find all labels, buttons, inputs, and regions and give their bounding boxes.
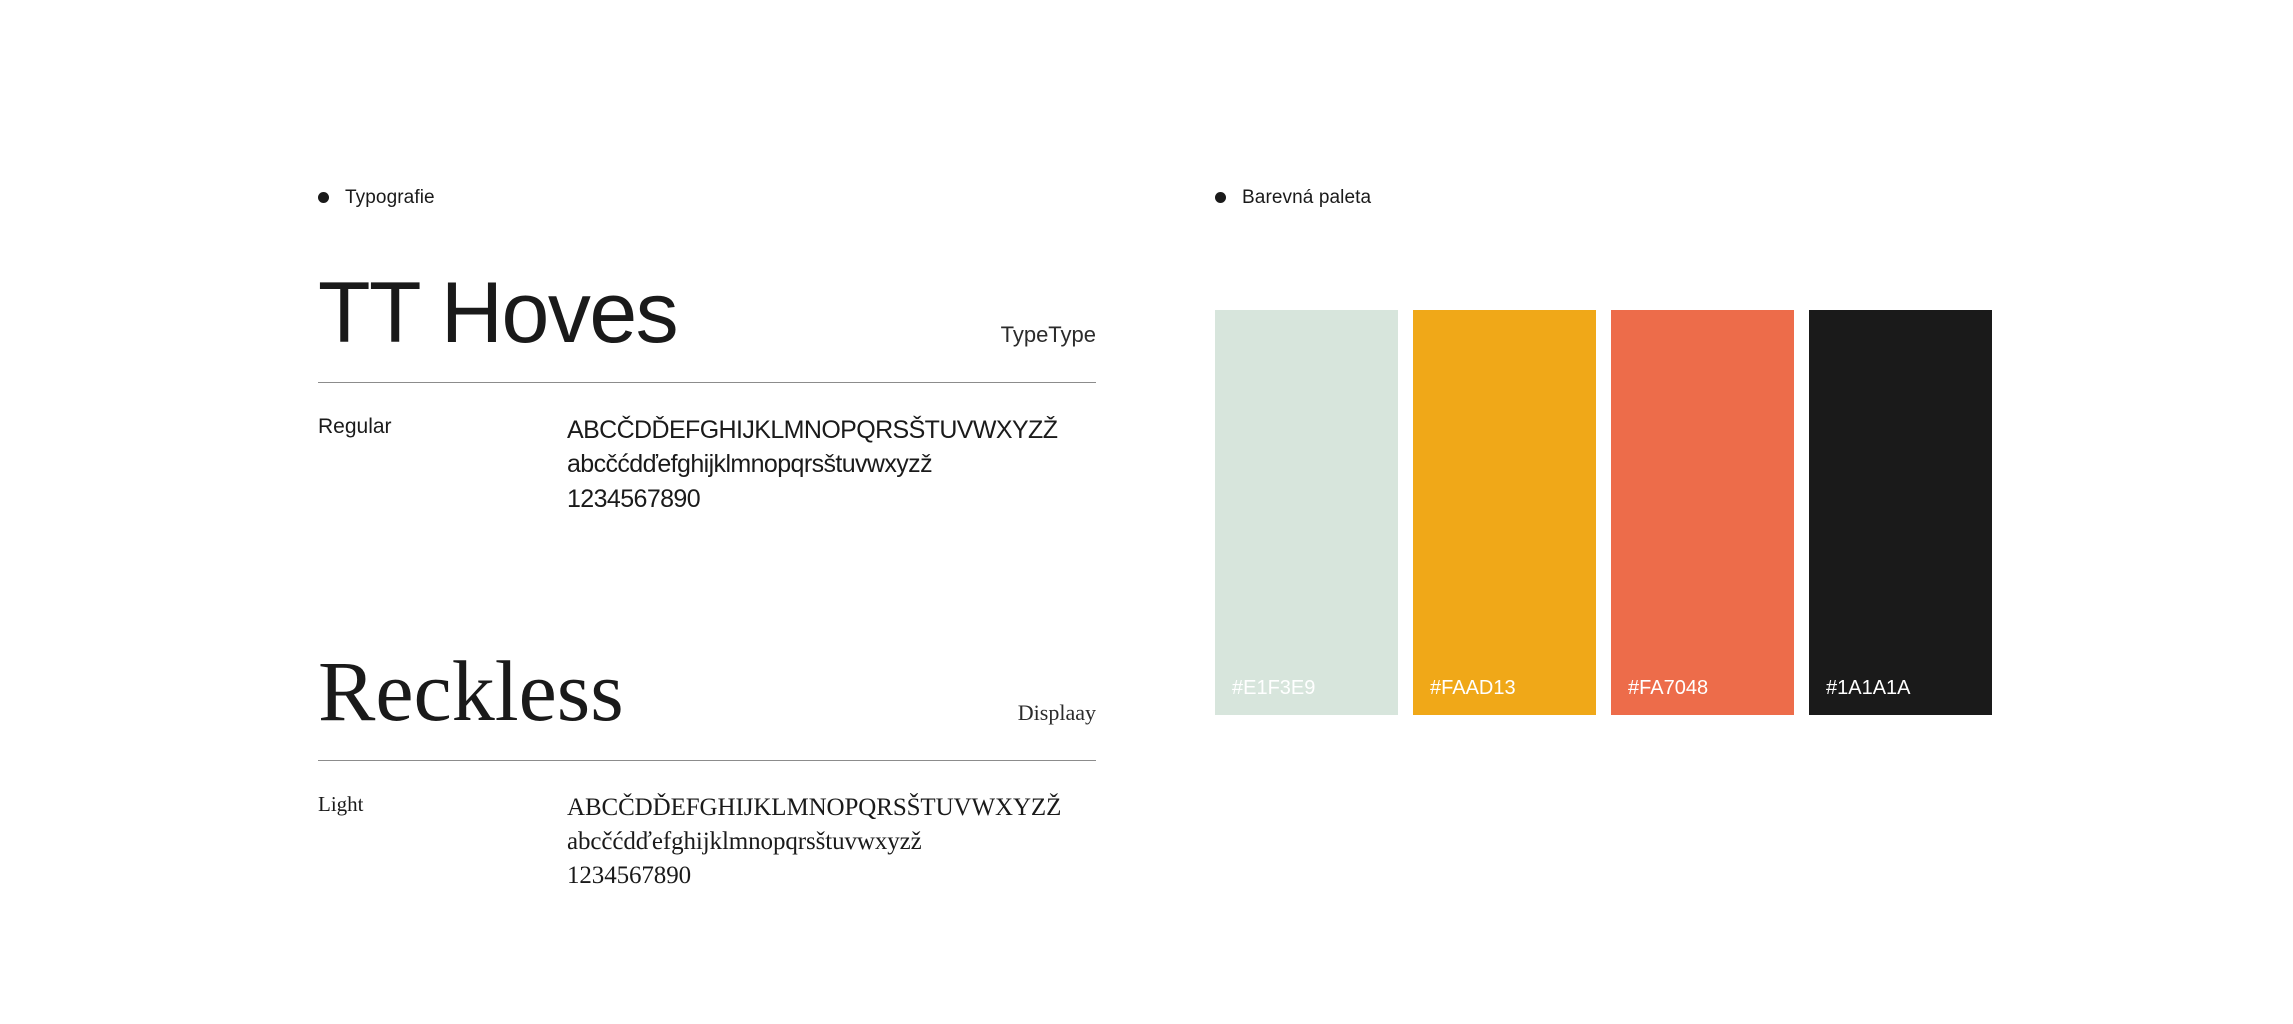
typeface-block-serif: Reckless Displaay Light ABCČDĎEFGHIJKLMN… — [318, 648, 1096, 894]
typeface-glyph-set: ABCČDĎEFGHIJKLMNOPQRSŠTUVWXYZŽ abcčćdďef… — [567, 791, 1096, 894]
palette-section-title: Barevná paleta — [1242, 188, 1371, 207]
typeface-block-sans: TT Hoves TypeType Regular ABCČDĎEFGHIJKL… — [318, 270, 1096, 516]
swatch-hex-label: #1A1A1A — [1826, 678, 1911, 698]
swatch-hex-label: #E1F3E9 — [1232, 678, 1315, 698]
typeface-title-row: TT Hoves TypeType — [318, 270, 1096, 356]
typeface-divider — [318, 760, 1096, 761]
typography-section-header: Typografie — [318, 188, 435, 207]
typeface-name: Reckless — [318, 648, 624, 734]
swatch-coral[interactable]: #FA7048 — [1611, 310, 1794, 715]
palette-section-header: Barevná paleta — [1215, 188, 1371, 207]
glyph-line-uppercase: ABCČDĎEFGHIJKLMNOPQRSŠTUVWXYZŽ — [567, 791, 1096, 825]
swatch-amber[interactable]: #FAAD13 — [1413, 310, 1596, 715]
color-palette: #E1F3E9 #FAAD13 #FA7048 #1A1A1A — [1215, 310, 1992, 715]
typeface-weight-label: Light — [318, 791, 567, 819]
typeface-foundry: Displaay — [1018, 702, 1096, 728]
glyph-line-lowercase: abcčćdďefghijklmnopqrsštuvwxyzž — [567, 825, 1096, 859]
typeface-glyph-set: ABCČDĎEFGHIJKLMNOPQRSŠTUVWXYZŽ abcčćdďef… — [567, 413, 1096, 516]
typeface-foundry: TypeType — [1001, 324, 1096, 350]
brand-guidelines-board: Typografie TT Hoves TypeType Regular ABC… — [0, 0, 2293, 1024]
glyph-line-numerals: 1234567890 — [567, 859, 1096, 893]
swatch-hex-label: #FA7048 — [1628, 678, 1708, 698]
swatch-mint[interactable]: #E1F3E9 — [1215, 310, 1398, 715]
glyph-line-lowercase: abcčćdďefghijklmnopqrsštuvwxyzž — [567, 447, 1096, 481]
swatch-hex-label: #FAAD13 — [1430, 678, 1516, 698]
bullet-dot-icon — [1215, 192, 1226, 203]
typeface-specimen-row: Light ABCČDĎEFGHIJKLMNOPQRSŠTUVWXYZŽ abc… — [318, 791, 1096, 894]
bullet-dot-icon — [318, 192, 329, 203]
typeface-specimen-row: Regular ABCČDĎEFGHIJKLMNOPQRSŠTUVWXYZŽ a… — [318, 413, 1096, 516]
typeface-divider — [318, 382, 1096, 383]
glyph-line-uppercase: ABCČDĎEFGHIJKLMNOPQRSŠTUVWXYZŽ — [567, 413, 1096, 447]
typeface-name: TT Hoves — [318, 270, 677, 356]
typography-column: TT Hoves TypeType Regular ABCČDĎEFGHIJKL… — [318, 270, 1096, 894]
swatch-black[interactable]: #1A1A1A — [1809, 310, 1992, 715]
glyph-line-numerals: 1234567890 — [567, 482, 1096, 516]
typeface-title-row: Reckless Displaay — [318, 648, 1096, 734]
typography-section-title: Typografie — [345, 188, 435, 207]
typeface-weight-label: Regular — [318, 413, 567, 441]
